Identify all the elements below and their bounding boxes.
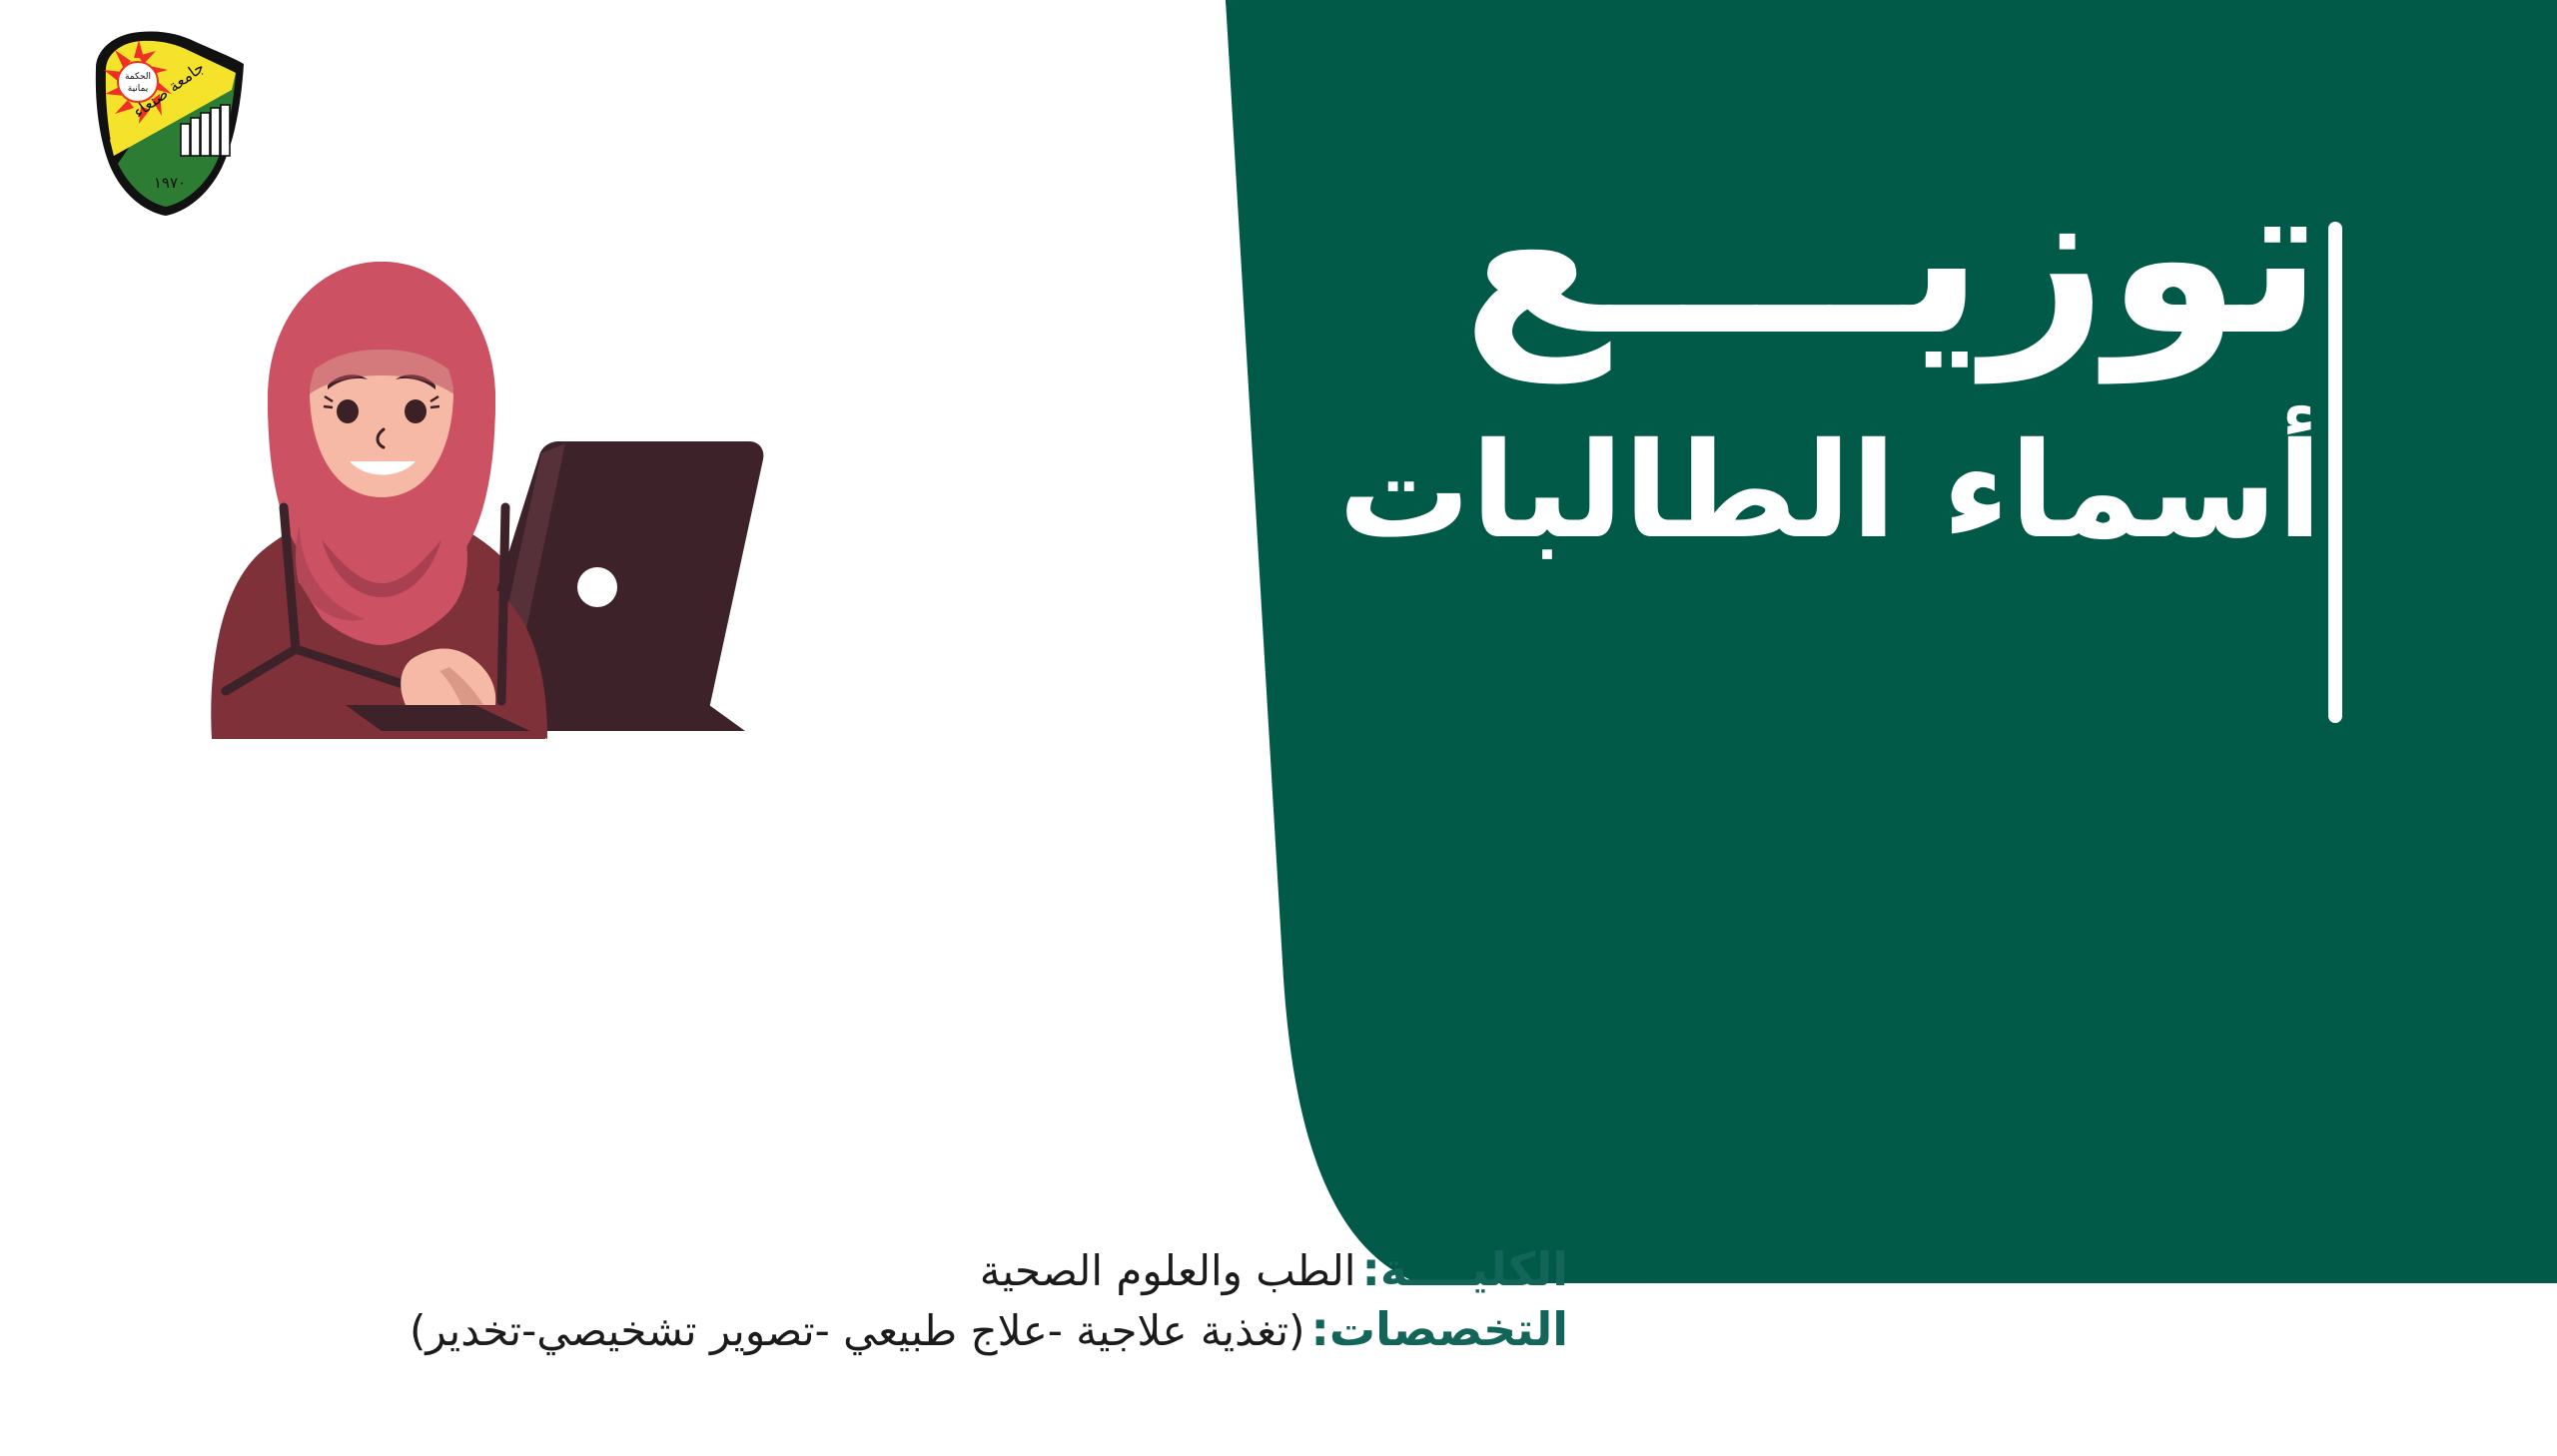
logo-founded-year: ١٩٧٠ [154,174,186,192]
student-illustration [150,240,789,739]
meta-block: الكليــــة:الطب والعلوم الصحية التخصصات:… [410,1246,1568,1366]
slide-canvas: توزيــــع أسماء الطالبات الكليــــة:الطب… [0,0,2557,1456]
faculty-value: الطب والعلوم الصحية [980,1246,1362,1295]
logo-motto-line1: الحكمة [125,72,151,82]
specialties-label: التخصصات: [1310,1302,1568,1356]
vertical-accent-rule [2328,222,2342,723]
page-subtitle: أسماء الطالبات [1323,422,2322,561]
university-logo-icon: الحكمة يمانية جامعة صنعاء ١٩٧٠ [84,28,254,218]
page-title: توزيــــع [1323,150,2322,364]
specialties-value: (تغذية علاجية -علاج طبيعي -تصوير تشخيصي-… [410,1306,1311,1355]
meta-row-specialties: التخصصات:(تغذية علاجية -علاج طبيعي -تصوي… [410,1306,1568,1352]
meta-row-faculty: الكليــــة:الطب والعلوم الصحية [410,1246,1568,1292]
logo-motto-line2: يمانية [128,84,149,94]
faculty-label: الكليــــة: [1361,1242,1568,1296]
title-block: توزيــــع أسماء الطالبات [1323,150,2322,561]
